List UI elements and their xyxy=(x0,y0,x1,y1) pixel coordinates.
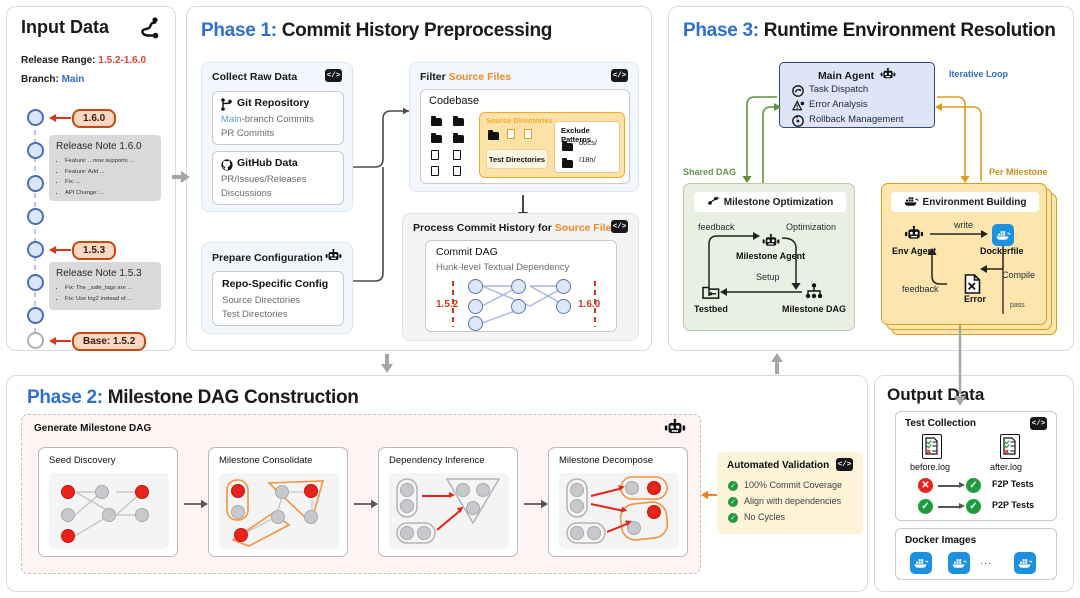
robot-icon xyxy=(325,249,342,268)
codebase-label: Codebase xyxy=(429,95,479,107)
dependency-arrow xyxy=(422,495,450,497)
docker-images-box: Docker Images ... xyxy=(895,528,1057,580)
graph-node xyxy=(400,526,414,540)
graph-node xyxy=(587,526,601,540)
graph-node xyxy=(400,499,414,513)
prepare-configuration-section: Prepare Configuration Repo-Specific Conf… xyxy=(201,242,353,334)
graph-node xyxy=(570,526,584,540)
commit-node-base xyxy=(27,332,44,349)
release-note-item: Fix: The _safe_tags are ... xyxy=(65,283,154,294)
git-repository-title: Git Repository xyxy=(237,97,309,109)
graph-node xyxy=(570,483,584,497)
step-milestone-consolidate: Milestone Consolidate xyxy=(208,447,348,557)
source-directories-box: Source Directories Test Directories Excl… xyxy=(479,112,625,178)
step-seed-discovery: Seed Discovery xyxy=(38,447,178,557)
commit-node xyxy=(27,175,44,192)
docker-icon xyxy=(904,195,919,210)
collect-raw-data-head: Collect Raw Data xyxy=(212,71,297,83)
after-log-label: after.log xyxy=(990,462,1022,472)
shared-dag-label: Shared DAG xyxy=(683,167,736,177)
phase3-panel: Phase 3: Runtime Environment Resolution … xyxy=(668,6,1074,351)
github-data-card: GitHub Data PR/Issues/Releases Discussio… xyxy=(212,151,344,205)
graph-node-seed xyxy=(61,485,75,499)
code-chip-icon: </> xyxy=(611,69,628,82)
phase3-heading: Runtime Environment Resolution xyxy=(764,20,1056,41)
decompose-arrow xyxy=(591,488,620,497)
robot-icon xyxy=(664,419,686,442)
graph-node xyxy=(476,483,490,497)
test-collection-box: Test Collection </> before.log after.log… xyxy=(895,411,1057,521)
file-icon xyxy=(524,129,532,139)
env-agent-label: Env Agent xyxy=(892,246,936,256)
dag-node xyxy=(468,299,483,314)
docker-images-head: Docker Images xyxy=(905,535,976,546)
step-label: Seed Discovery xyxy=(49,455,116,466)
graph-node xyxy=(304,510,318,524)
robot-icon xyxy=(880,68,896,84)
process-head: Process Commit History for Source Files xyxy=(413,222,617,234)
code-chip-icon: </> xyxy=(836,458,853,471)
release-range-value: 1.5.2-1.6.0 xyxy=(98,55,146,66)
step-dependency-inference: Dependency Inference xyxy=(378,447,518,557)
folder-icon xyxy=(431,135,442,143)
seed-discovery-graph xyxy=(49,473,169,549)
file-icon xyxy=(453,166,461,176)
phase1-keyword: Phase 1: xyxy=(201,20,277,41)
file-icon xyxy=(507,129,515,139)
dag-node xyxy=(511,299,526,314)
tag-arrow xyxy=(55,117,71,119)
graph-node-seed xyxy=(647,505,661,519)
milestone-optimization-box: Milestone Optimization feedback Optimiza… xyxy=(683,183,855,331)
milestone-agent-label: Milestone Agent xyxy=(736,251,805,261)
graph-node xyxy=(135,508,149,522)
pass-status-icon: ✓ xyxy=(966,478,981,493)
check-icon: ✓ xyxy=(728,481,738,491)
code-chip-icon: </> xyxy=(325,69,342,82)
graph-node xyxy=(95,485,109,499)
branch-label: Branch: xyxy=(21,74,59,85)
phase1-panel: Phase 1: Commit History Preprocessing Co… xyxy=(186,6,652,351)
compile-label: Compile xyxy=(1002,270,1035,280)
filter-source-files-section: Filter Source Files </> Codebase Source … xyxy=(409,62,639,192)
decompose-arrow xyxy=(607,523,628,533)
github-data-line-2: Discussions xyxy=(221,187,272,201)
github-data-line-1: PR/Issues/Releases xyxy=(221,173,307,187)
branch-value: Main xyxy=(62,74,85,85)
dag-node xyxy=(511,279,526,294)
tag-arrow xyxy=(55,340,71,342)
phase2-to-phase3-arrow xyxy=(768,352,788,376)
decompose-arrow xyxy=(591,503,623,511)
validation-item: 100% Commit Coverage xyxy=(744,480,842,490)
code-chip-icon: </> xyxy=(1030,417,1047,430)
commit-dag-subtitle: Hunk-level Textual Dependency xyxy=(436,262,569,273)
dag-node xyxy=(556,279,571,294)
page-title: Input Data xyxy=(21,17,109,38)
milestone-consolidate-graph xyxy=(219,473,339,549)
phase1-heading: Commit History Preprocessing xyxy=(282,20,552,41)
git-repository-line-1: Main-branch Commits xyxy=(221,113,314,127)
branch: Branch: Main xyxy=(21,74,84,85)
release-range-label: Release Range: xyxy=(21,55,95,66)
version-tag-base: Base: 1.5.2 xyxy=(72,332,146,351)
graph-node xyxy=(456,483,470,497)
before-log-label: before.log xyxy=(910,462,950,472)
file-icon xyxy=(431,150,439,160)
graph-node-seed xyxy=(231,484,245,498)
exclude-patterns-box: Exclude Patterns docs/ I18n/ xyxy=(554,121,620,173)
phase2-panel: Phase 2: Milestone DAG Construction Gene… xyxy=(6,375,868,592)
test-directories-box: Test Directories xyxy=(486,149,548,169)
commit-node xyxy=(27,307,44,324)
dag-right-version: 1.6.0 xyxy=(578,299,600,310)
exclude-item: I18n/ xyxy=(579,155,596,164)
exclude-item: docs/ xyxy=(579,138,597,147)
step-milestone-decompose: Milestone Decompose xyxy=(548,447,688,557)
graph-node-seed xyxy=(61,529,75,543)
step-label: Dependency Inference xyxy=(389,455,485,466)
graph-node-seed xyxy=(304,484,318,498)
graph-node xyxy=(570,499,584,513)
dependency-arrow xyxy=(436,510,460,531)
folder-icon xyxy=(431,118,442,126)
git-repository-line-2: PR Commits xyxy=(221,127,274,141)
graph-node xyxy=(417,526,431,540)
step-label: Milestone Decompose xyxy=(559,455,653,466)
folder-icon xyxy=(562,160,573,168)
feedback-label: feedback xyxy=(902,284,939,294)
milestone-optimization-head: Milestone Optimization xyxy=(694,192,846,212)
f2p-tests-label: F2P Tests xyxy=(992,479,1034,489)
graph-node xyxy=(625,481,639,495)
release-note: Release Note 1.5.3 Fix: The _safe_tags a… xyxy=(49,262,161,310)
release-note-item: Feature: Add ... xyxy=(65,167,154,178)
folder-icon xyxy=(562,143,573,151)
dockerfile-label: Dockerfile xyxy=(980,246,1024,256)
iterative-loop-label: Iterative Loop xyxy=(949,69,1008,79)
release-range: Release Range: 1.5.2-1.6.0 xyxy=(21,55,146,66)
setup-label: Setup xyxy=(756,272,780,282)
source-directories-label: Source Directories xyxy=(486,116,553,125)
folder-icon xyxy=(453,135,464,143)
repo-config-line-2: Test Directories xyxy=(222,308,287,322)
main-agent-row-label: Error Analysis xyxy=(809,99,868,110)
release-note-item: Fix: Use log2 instead of ... xyxy=(65,294,154,305)
phase1-title: Phase 1: Commit History Preprocessing xyxy=(201,20,552,42)
dag-node xyxy=(468,279,483,294)
graph-node-seed xyxy=(647,481,661,495)
file-icon xyxy=(453,150,461,160)
release-note: Release Note 1.6.0 Feature: .. now suppo… xyxy=(49,135,161,201)
ellipsis-label: ... xyxy=(980,555,992,567)
git-branch-icon xyxy=(135,16,161,45)
docker-image-icon xyxy=(948,552,970,574)
main-agent-box: Main Agent Task Dispatch Error Analysis … xyxy=(779,62,935,128)
docker-image-icon xyxy=(1014,552,1036,574)
pass-status-icon: ✓ xyxy=(966,499,981,514)
version-tag: 1.5.3 xyxy=(72,241,116,260)
process-commit-history-section: Process Commit History for Source Files … xyxy=(402,213,639,341)
test-collection-head: Test Collection xyxy=(905,418,976,429)
release-note-title: Release Note 1.6.0 xyxy=(56,141,154,152)
graph-node-seed xyxy=(234,528,248,542)
main-agent-row-label: Task Dispatch xyxy=(809,84,868,95)
graph-node-seed xyxy=(135,485,149,499)
dag-node xyxy=(556,299,571,314)
testbed-label: Testbed xyxy=(694,304,728,314)
optimization-label: Optimization xyxy=(786,222,836,232)
repo-config-title: Repo-Specific Config xyxy=(222,278,328,290)
commit-node xyxy=(27,241,44,258)
main-agent-title: Main Agent xyxy=(780,68,934,84)
phase3-keyword: Phase 3: xyxy=(683,20,759,41)
testbed-icon xyxy=(702,284,720,305)
tag-arrow xyxy=(55,249,71,251)
release-note-item: Fix: ... xyxy=(65,177,154,188)
docker-image-icon xyxy=(910,552,932,574)
milestone-decompose-graph xyxy=(559,473,679,549)
graph-node xyxy=(275,485,289,499)
dag-icon xyxy=(707,195,720,210)
graph-node xyxy=(102,508,116,522)
code-chip-icon: </> xyxy=(611,220,628,233)
graph-node xyxy=(231,505,245,519)
environment-building-head: Environment Building xyxy=(891,192,1039,212)
phase1-to-phase2-arrow xyxy=(378,354,398,376)
release-note-item: Feature: .. now supports ... xyxy=(65,156,154,167)
pass-label: pass xyxy=(1010,302,1025,309)
before-log-icon xyxy=(922,434,942,459)
phase3-title: Phase 3: Runtime Environment Resolution xyxy=(683,20,1056,42)
collect-raw-data-section: Collect Raw Data </> Git Repository Main… xyxy=(201,62,353,212)
folder-icon xyxy=(488,132,499,140)
output-data-panel: Output Data Test Collection </> before.l… xyxy=(874,375,1074,592)
codebase-card: Codebase Source Directories Test Directo… xyxy=(420,89,630,184)
release-note-item: API Change: ... xyxy=(65,188,154,199)
milestone-dag-label: Milestone DAG xyxy=(782,304,846,314)
dependency-inference-graph xyxy=(389,473,509,549)
check-icon: ✓ xyxy=(728,513,738,523)
graph-node xyxy=(466,501,480,515)
version-tag: 1.6.0 xyxy=(72,109,116,128)
p2p-tests-label: P2P Tests xyxy=(992,500,1034,510)
output-data-title: Output Data xyxy=(887,385,984,405)
validation-item: Align with dependencies xyxy=(744,496,841,506)
release-note-title: Release Note 1.5.3 xyxy=(56,268,154,279)
fail-status-icon: ✕ xyxy=(918,478,933,493)
commit-dag-card: Commit DAG Hunk-level Textual Dependency… xyxy=(425,240,617,332)
robot-icon xyxy=(904,226,924,247)
dag-left-version: 1.5.2 xyxy=(436,299,458,310)
status-transition-arrow xyxy=(938,506,960,508)
commit-node xyxy=(27,208,44,225)
after-log-icon xyxy=(1000,434,1020,459)
dag-node xyxy=(468,316,483,331)
main-agent-row-label: Rollback Management xyxy=(809,114,904,125)
file-icon xyxy=(431,166,439,176)
automated-validation-box: Automated Validation </> ✓ 100% Commit C… xyxy=(717,452,863,534)
environment-building-box: Environment Building Env Agent write Doc… xyxy=(881,183,1047,325)
phase2-title: Phase 2: Milestone DAG Construction xyxy=(27,387,359,409)
generate-milestone-dag-head: Generate Milestone DAG xyxy=(34,423,151,434)
graph-node xyxy=(400,483,414,497)
filter-head: Filter Source Files xyxy=(420,71,511,83)
git-repository-card: Git Repository Main-branch Commits PR Co… xyxy=(212,91,344,145)
commit-node xyxy=(27,109,44,126)
github-data-title: GitHub Data xyxy=(237,157,298,169)
feedback-label: feedback xyxy=(698,222,735,232)
folder-icon xyxy=(453,118,464,126)
pass-status-icon: ✓ xyxy=(918,499,933,514)
milestone-dag-icon xyxy=(804,283,824,305)
repo-config-card: Repo-Specific Config Source Directories … xyxy=(212,271,344,326)
phase2-heading: Milestone DAG Construction xyxy=(108,387,359,408)
per-milestone-label: Per Milestone xyxy=(989,167,1048,177)
input-data-panel: Input Data Release Range: 1.5.2-1.6.0 Br… xyxy=(6,6,176,351)
dockerfile-icon xyxy=(992,224,1014,246)
automated-validation-head: Automated Validation xyxy=(727,460,829,471)
graph-node xyxy=(61,508,75,522)
prepare-configuration-head: Prepare Configuration xyxy=(212,252,323,264)
phase2-keyword: Phase 2: xyxy=(27,387,103,408)
write-label: write xyxy=(954,220,973,230)
commit-node xyxy=(27,274,44,291)
status-transition-arrow xyxy=(938,485,960,487)
commit-dag-title: Commit DAG xyxy=(436,246,498,258)
rollback-icon xyxy=(792,114,804,132)
generate-milestone-dag-group: Generate Milestone DAG Seed Discovery xyxy=(21,414,701,574)
validation-item: No Cycles xyxy=(744,512,785,522)
step-label: Milestone Consolidate xyxy=(219,455,312,466)
error-label: Error xyxy=(964,294,986,304)
check-icon: ✓ xyxy=(728,497,738,507)
repo-config-line-1: Source Directories xyxy=(222,294,300,308)
commit-node xyxy=(27,142,44,159)
graph-node xyxy=(271,510,285,524)
